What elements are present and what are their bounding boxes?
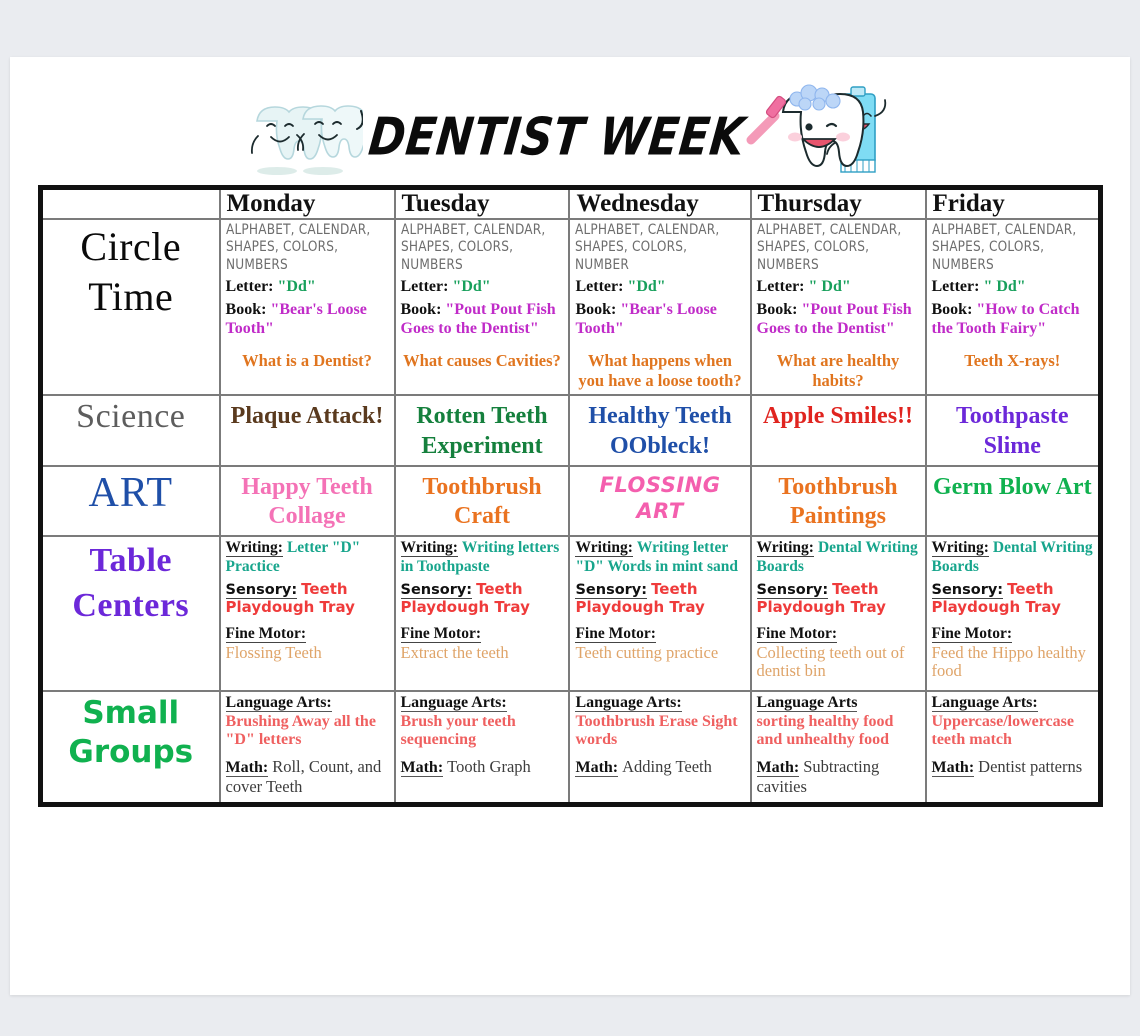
- table-header-row: Monday Tuesday Wednesday Thursday Friday: [41, 188, 1101, 220]
- cell-small-groups-monday: Language Arts:Brushing Away all the "D" …: [220, 691, 395, 804]
- subjects-text: ALPHABET, CALENDAR, SHAPES, COLORS, NUMB…: [932, 222, 1082, 274]
- writing-label: Writing:: [401, 539, 458, 557]
- cell-art-wednesday: FLOSSING ART: [569, 466, 750, 537]
- row-label-small-groups: Small Groups: [41, 691, 220, 804]
- discussion-question: What happens when you have a loose tooth…: [575, 351, 744, 391]
- subjects-text: ALPHABET, CALENDAR, SHAPES, COLORS, NUMB…: [401, 222, 553, 274]
- writing-label: Writing:: [575, 539, 632, 557]
- activity-text: Germ Blow Art: [932, 469, 1094, 502]
- fine-motor-label: Fine Motor:: [575, 625, 655, 643]
- cell-art-monday: Happy Teeth Collage: [220, 466, 395, 537]
- cell-circle-time-monday: ALPHABET, CALENDAR, SHAPES, COLORS, NUMB…: [220, 219, 395, 395]
- weekly-plan-table-wrapper: Monday Tuesday Wednesday Thursday Friday…: [38, 185, 1103, 807]
- row-label-circle-time: Circle Time: [41, 219, 220, 395]
- language-arts-label: Language Arts:: [226, 694, 332, 712]
- activity-text: Toothbrush Paintings: [757, 469, 920, 532]
- sensory-label: Sensory:: [401, 582, 473, 599]
- cell-art-friday: Germ Blow Art: [926, 466, 1101, 537]
- activity-text: Plaque Attack!: [226, 398, 389, 431]
- math-value: Adding Teeth: [622, 757, 712, 776]
- row-label-text: ART: [48, 469, 214, 517]
- sensory-label: Sensory:: [932, 582, 1004, 599]
- discussion-question: What is a Dentist?: [226, 351, 389, 371]
- activity-text: FLOSSING ART: [575, 469, 744, 524]
- row-label-line1: Small: [48, 694, 214, 733]
- row-table-centers: Table Centers Writing: Letter "D" Practi…: [41, 536, 1101, 691]
- fine-motor-label: Fine Motor:: [401, 625, 481, 643]
- book-label: Book:: [932, 301, 973, 318]
- page-header: DENTIST WEEK: [10, 85, 1130, 190]
- weekly-plan-table: Monday Tuesday Wednesday Thursday Friday…: [38, 185, 1103, 807]
- math-label: Math:: [757, 759, 800, 777]
- cell-circle-time-thursday: ALPHABET, CALENDAR, SHAPES, COLORS, NUMB…: [751, 219, 926, 395]
- row-circle-time: Circle Time ALPHABET, CALENDAR, SHAPES, …: [41, 219, 1101, 395]
- letter-label: Letter:: [575, 278, 623, 295]
- day-label: Monday: [227, 190, 394, 218]
- day-header-friday: Friday: [926, 188, 1101, 220]
- math-label: Math:: [932, 759, 975, 777]
- letter-value: " Dd": [983, 278, 1025, 295]
- subjects-text: ALPHABET, CALENDAR, SHAPES, COLORS, NUMB…: [226, 222, 378, 274]
- day-header-monday: Monday: [220, 188, 395, 220]
- two-happy-teeth-icon: [245, 99, 363, 177]
- letter-label: Letter:: [401, 278, 449, 295]
- activity-text: Happy Teeth Collage: [226, 469, 389, 532]
- letter-value: " Dd": [809, 278, 851, 295]
- day-label: Friday: [933, 190, 1099, 218]
- language-arts-label: Language Arts: [757, 694, 858, 712]
- worksheet-card: DENTIST WEEK: [10, 57, 1130, 995]
- fine-motor-value: Flossing Teeth: [226, 644, 389, 663]
- tooth-brushing-icon: [745, 82, 895, 180]
- book-label: Book:: [401, 301, 442, 318]
- fine-motor-value: Teeth cutting practice: [575, 644, 744, 663]
- fine-motor-value: Collecting teeth out of dentist bin: [757, 644, 920, 682]
- math-value: Tooth Graph: [447, 757, 531, 776]
- writing-label: Writing:: [226, 539, 283, 557]
- book-label: Book:: [575, 301, 616, 318]
- cell-small-groups-wednesday: Language Arts:Toothbrush Erase Sight wor…: [569, 691, 750, 804]
- letter-value: "Dd": [278, 278, 316, 295]
- cell-science-monday: Plaque Attack!: [220, 395, 395, 466]
- language-arts-value: Uppercase/lowercase teeth match: [932, 713, 1094, 750]
- language-arts-label: Language Arts:: [401, 694, 507, 712]
- discussion-question: What are healthy habits?: [757, 351, 920, 391]
- subjects-text: ALPHABET, CALENDAR, SHAPES, COLORS, NUMB…: [575, 222, 732, 274]
- letter-value: "Dd": [452, 278, 490, 295]
- row-label-line1: Table: [48, 539, 214, 583]
- cell-science-friday: Toothpaste Slime: [926, 395, 1101, 466]
- language-arts-value: Brushing Away all the "D" letters: [226, 713, 389, 750]
- cell-small-groups-friday: Language Arts:Uppercase/lowercase teeth …: [926, 691, 1101, 804]
- row-label-science: Science: [41, 395, 220, 466]
- cell-table-centers-thursday: Writing: Dental Writing Boards Sensory: …: [751, 536, 926, 691]
- day-label: Wednesday: [576, 190, 749, 218]
- cell-circle-time-friday: ALPHABET, CALENDAR, SHAPES, COLORS, NUMB…: [926, 219, 1101, 395]
- letter-label: Letter:: [932, 278, 980, 295]
- cell-table-centers-tuesday: Writing: Writing letters in Toothpaste S…: [395, 536, 570, 691]
- letter-label: Letter:: [226, 278, 274, 295]
- language-arts-value: sorting healthy food and unhealthy food: [757, 713, 920, 750]
- row-science: Science Plaque Attack! Rotten Teeth Expe…: [41, 395, 1101, 466]
- sensory-label: Sensory:: [757, 582, 829, 599]
- language-arts-value: Toothbrush Erase Sight words: [575, 713, 744, 750]
- row-small-groups: Small Groups Language Arts:Brushing Away…: [41, 691, 1101, 804]
- page-title: DENTIST WEEK: [366, 107, 748, 167]
- row-label-text: Science: [48, 398, 214, 436]
- day-label: Thursday: [758, 190, 925, 218]
- subjects-text: ALPHABET, CALENDAR, SHAPES, COLORS, NUMB…: [757, 222, 909, 274]
- writing-label: Writing:: [757, 539, 814, 557]
- sensory-label: Sensory:: [575, 582, 647, 599]
- cell-science-tuesday: Rotten Teeth Experiment: [395, 395, 570, 466]
- row-art: ART Happy Teeth Collage Toothbrush Craft…: [41, 466, 1101, 537]
- math-label: Math:: [226, 759, 269, 777]
- header-corner-cell: [41, 188, 220, 220]
- fine-motor-label: Fine Motor:: [226, 625, 306, 643]
- cell-science-thursday: Apple Smiles!!: [751, 395, 926, 466]
- cell-table-centers-friday: Writing: Dental Writing Boards Sensory: …: [926, 536, 1101, 691]
- cell-small-groups-tuesday: Language Arts:Brush your teeth sequencin…: [395, 691, 570, 804]
- letter-label: Letter:: [757, 278, 805, 295]
- math-label: Math:: [401, 759, 444, 777]
- cell-art-tuesday: Toothbrush Craft: [395, 466, 570, 537]
- fine-motor-value: Feed the Hippo healthy food: [932, 644, 1094, 682]
- activity-text: Rotten Teeth Experiment: [401, 398, 564, 461]
- language-arts-label: Language Arts:: [575, 694, 681, 712]
- day-header-wednesday: Wednesday: [569, 188, 750, 220]
- activity-text: Toothpaste Slime: [932, 398, 1094, 461]
- row-label-line2: Centers: [48, 584, 214, 628]
- letter-value: "Dd": [627, 278, 665, 295]
- activity-text: Healthy Teeth OObleck!: [575, 398, 744, 461]
- cell-science-wednesday: Healthy Teeth OObleck!: [569, 395, 750, 466]
- cell-art-thursday: Toothbrush Paintings: [751, 466, 926, 537]
- math-label: Math:: [575, 759, 618, 777]
- day-label: Tuesday: [402, 190, 569, 218]
- writing-label: Writing:: [932, 539, 989, 557]
- cell-circle-time-wednesday: ALPHABET, CALENDAR, SHAPES, COLORS, NUMB…: [569, 219, 750, 395]
- activity-text: Toothbrush Craft: [401, 469, 564, 532]
- language-arts-value: Brush your teeth sequencing: [401, 713, 564, 750]
- fine-motor-value: Extract the teeth: [401, 644, 564, 663]
- cell-table-centers-wednesday: Writing: Writing letter "D" Words in min…: [569, 536, 750, 691]
- language-arts-label: Language Arts:: [932, 694, 1038, 712]
- math-value: Dentist patterns: [978, 757, 1082, 776]
- activity-text: Apple Smiles!!: [757, 398, 920, 431]
- cell-small-groups-thursday: Language Artssorting healthy food and un…: [751, 691, 926, 804]
- row-label-line2: Groups: [48, 733, 214, 772]
- book-label: Book:: [226, 301, 267, 318]
- row-label-table-centers: Table Centers: [41, 536, 220, 691]
- day-header-thursday: Thursday: [751, 188, 926, 220]
- day-header-tuesday: Tuesday: [395, 188, 570, 220]
- row-label-line2: Time: [48, 272, 214, 322]
- cell-table-centers-monday: Writing: Letter "D" Practice Sensory: Te…: [220, 536, 395, 691]
- row-label-line1: Circle: [48, 222, 214, 272]
- discussion-question: Teeth X-rays!: [932, 351, 1094, 371]
- cell-circle-time-tuesday: ALPHABET, CALENDAR, SHAPES, COLORS, NUMB…: [395, 219, 570, 395]
- book-label: Book:: [757, 301, 798, 318]
- discussion-question: What causes Cavities?: [401, 351, 564, 371]
- row-label-art: ART: [41, 466, 220, 537]
- fine-motor-label: Fine Motor:: [932, 625, 1012, 643]
- sensory-label: Sensory:: [226, 582, 298, 599]
- fine-motor-label: Fine Motor:: [757, 625, 837, 643]
